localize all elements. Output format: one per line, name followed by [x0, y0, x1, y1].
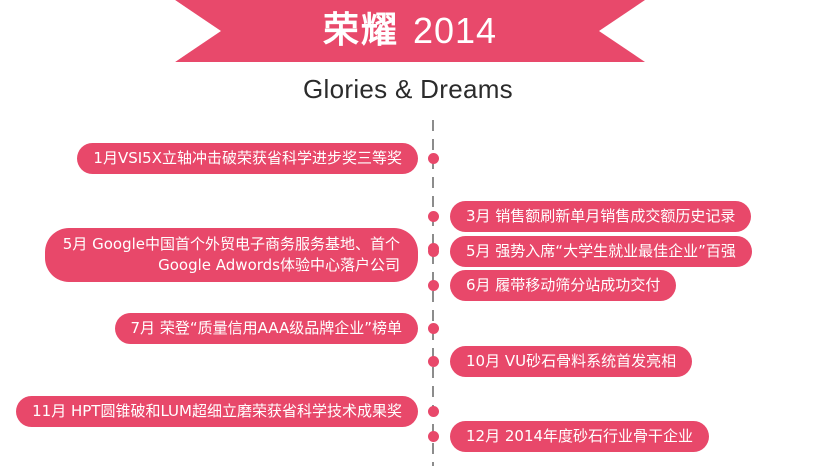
timeline-event-pill-3月[interactable]: 3月 销售额刷新单月销售成交额历史记录	[450, 201, 751, 232]
timeline-event-pill-11月[interactable]: 11月 HPT圆锥破和LUM超细立磨荣获省科学技术成果奖	[16, 396, 418, 427]
timeline-dot	[428, 406, 439, 417]
timeline-event-pill-6月[interactable]: 6月 履带移动筛分站成功交付	[450, 270, 676, 301]
page-subtitle: Glories & Dreams	[0, 74, 816, 105]
timeline-event-pill-5月[interactable]: 5月 强势入席“大学生就业最佳企业”百强	[450, 236, 752, 267]
timeline-dot	[428, 280, 439, 291]
timeline-event-pill-7月[interactable]: 7月 荣登“质量信用AAA级品牌企业”榜单	[115, 313, 418, 344]
timeline-event-pill-12月[interactable]: 12月 2014年度砂石行业骨干企业	[450, 421, 709, 452]
timeline-event-pill-10月[interactable]: 10月 VU砂石骨料系统首发亮相	[450, 346, 692, 377]
timeline-dot	[428, 246, 439, 257]
timeline-dot	[428, 211, 439, 222]
timeline-dot	[428, 431, 439, 442]
timeline-dot	[428, 323, 439, 334]
title-ribbon-banner: 荣耀 2014	[175, 0, 645, 62]
timeline-event-pill-5月[interactable]: 5月 Google中国首个外贸电子商务服务基地、首个 Google Adword…	[45, 228, 418, 282]
timeline-dot	[428, 153, 439, 164]
ribbon-body	[175, 0, 645, 62]
timeline-dot	[428, 356, 439, 367]
timeline-event-pill-1月[interactable]: 1月VSI5X立轴冲击破荣获省科学进步奖三等奖	[77, 143, 418, 174]
infographic-page: 荣耀 2014 Glories & Dreams 1月VSI5X立轴冲击破荣获省…	[0, 0, 816, 471]
